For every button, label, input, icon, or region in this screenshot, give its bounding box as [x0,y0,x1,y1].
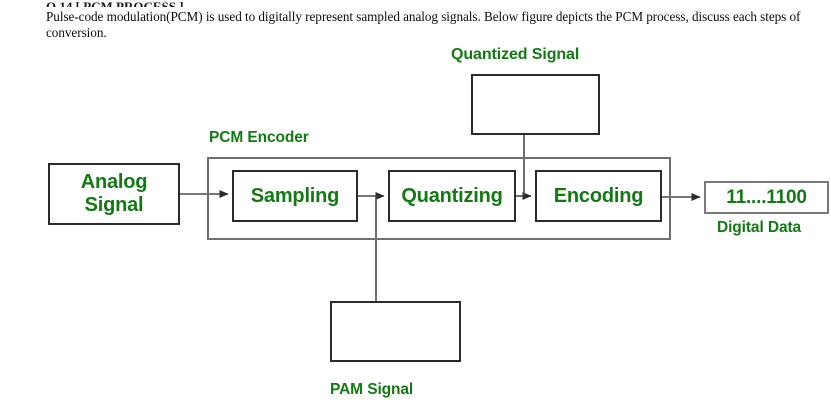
analog-signal-line1: Analog [81,171,148,193]
analog-signal-line2: Signal [85,194,144,216]
caption-pcm-encoder: PCM Encoder [209,129,309,147]
pcm-process-diagram: Analog Signal Sampling Quantizing Encodi… [0,0,831,412]
block-encoding-label: Encoding [554,185,644,208]
block-encoding[interactable]: Encoding [535,170,662,222]
block-digital-data[interactable]: 11....1100 [704,181,829,214]
caption-pam-signal: PAM Signal [330,381,413,399]
block-digital-data-label: 11....1100 [726,186,806,209]
block-analog-signal[interactable]: Analog Signal [48,163,180,225]
caption-quantized-signal: Quantized Signal [451,46,579,64]
pam-signal-box[interactable] [330,301,461,362]
block-analog-signal-label: Analog Signal [81,171,148,217]
quantized-signal-box[interactable] [471,74,600,135]
block-quantizing[interactable]: Quantizing [388,170,516,222]
block-quantizing-label: Quantizing [401,185,502,208]
block-sampling[interactable]: Sampling [232,170,358,222]
caption-digital-data: Digital Data [717,219,801,237]
block-sampling-label: Sampling [251,185,339,208]
